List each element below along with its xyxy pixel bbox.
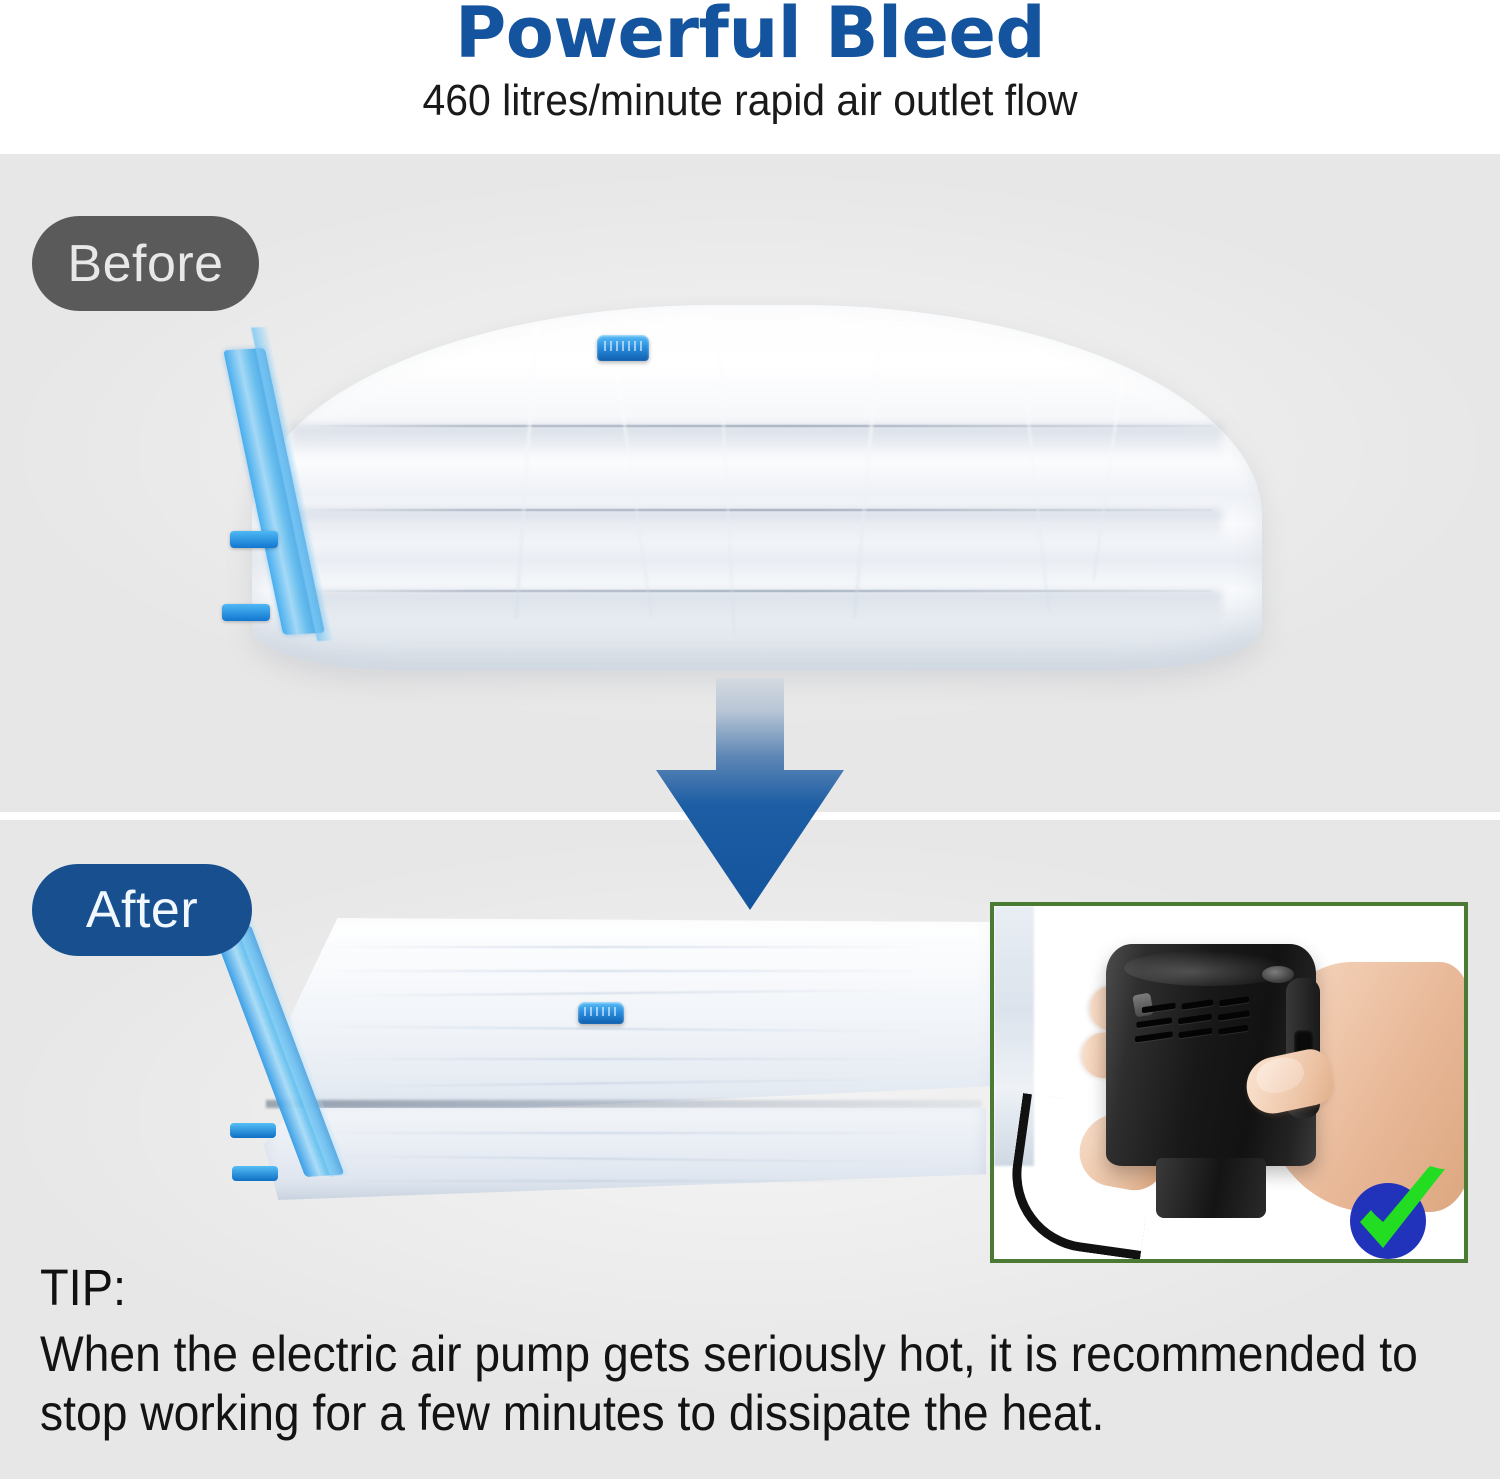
compressed-bag-top-layer — [280, 918, 998, 1118]
pump-indicator-icon — [1262, 966, 1294, 983]
tip-block: TIP: When the electric air pump gets ser… — [40, 1262, 1470, 1443]
after-badge-label: After — [86, 880, 198, 940]
header-banner: Powerful Bleed 460 litres/minute rapid a… — [0, 0, 1500, 154]
before-badge-label: Before — [67, 234, 223, 294]
bag-wrinkle — [332, 1058, 922, 1060]
bag-wrinkle — [318, 1132, 938, 1134]
check-circle-icon — [1340, 1166, 1452, 1262]
air-valve-icon — [578, 1002, 624, 1024]
air-valve-icon — [597, 335, 649, 361]
bag-seam-shadow — [292, 425, 1221, 458]
pump-nozzle — [1156, 1158, 1266, 1218]
page-subtitle: 460 litres/minute rapid air outlet flow — [53, 78, 1448, 124]
compressed-bag-edge — [266, 1100, 982, 1108]
bag-zip-clip — [232, 1166, 278, 1181]
bag-seam — [303, 425, 1212, 427]
tip-label: TIP: — [40, 1262, 1356, 1313]
bag-seam-shadow — [292, 590, 1221, 623]
bag-wrinkle — [328, 970, 928, 972]
after-badge: After — [32, 864, 252, 956]
before-badge: Before — [32, 216, 259, 311]
bag-wrinkle — [318, 946, 938, 948]
bag-seam-shadow — [292, 509, 1221, 542]
bag-seam — [303, 509, 1212, 511]
power-cord — [1002, 1093, 1160, 1260]
bag-zip-clip — [230, 531, 278, 548]
after-vacuum-bag-image — [258, 918, 998, 1208]
page-title: Powerful Bleed — [0, 0, 1500, 68]
tip-body-text: When the electric air pump gets seriousl… — [40, 1325, 1469, 1443]
bag-wrinkle — [336, 1180, 906, 1182]
bag-zip-clip — [222, 604, 270, 621]
bag-zip-clip — [230, 1123, 276, 1138]
bag-seam — [303, 590, 1212, 592]
compressed-bag-bottom-layer — [264, 1108, 986, 1200]
pump-inset-image — [990, 902, 1468, 1263]
before-vacuum-bag-image — [252, 305, 1262, 670]
pump-vent-grille — [1134, 991, 1256, 1048]
